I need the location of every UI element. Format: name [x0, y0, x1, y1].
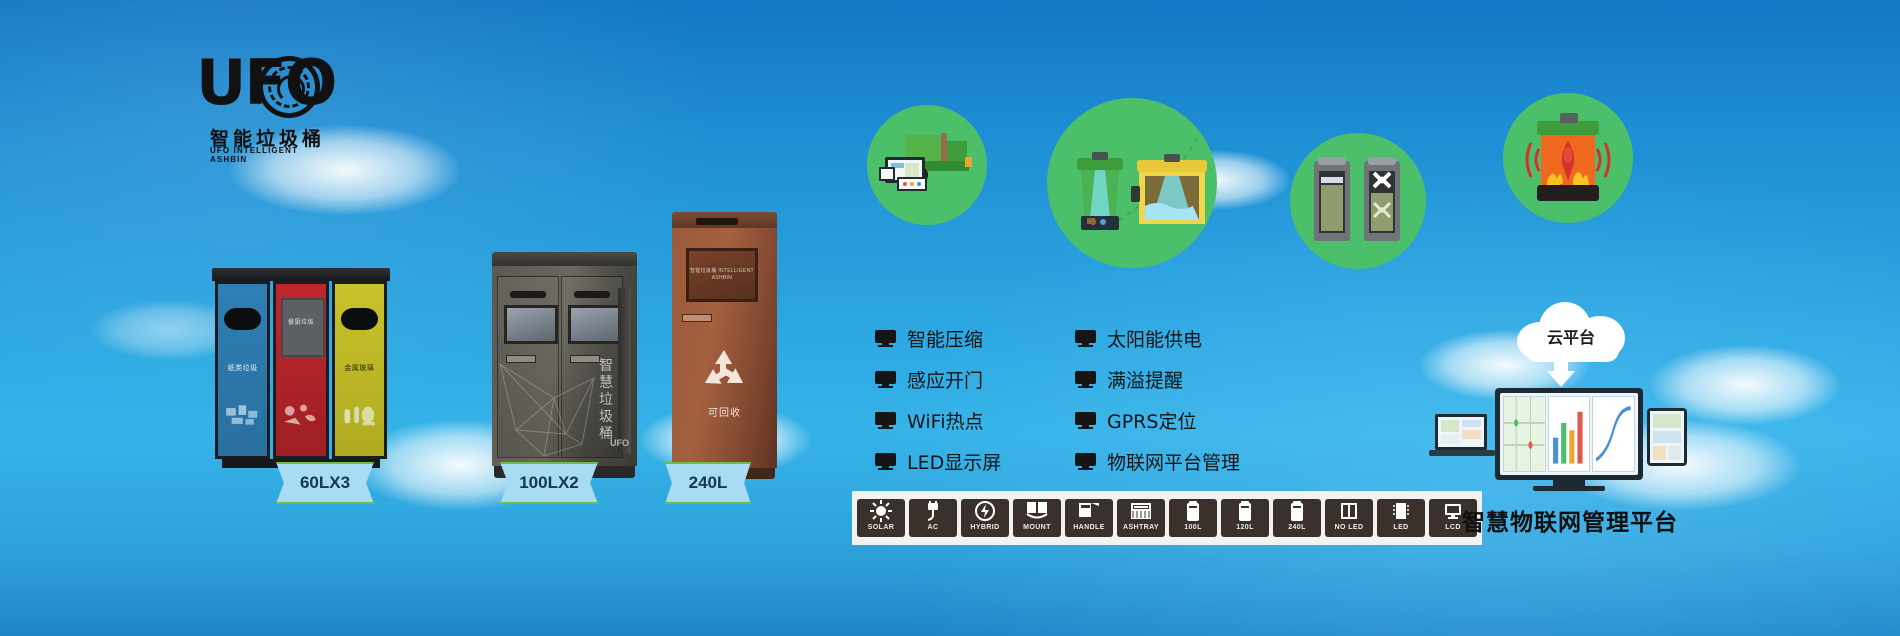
waste-slot-icon	[224, 308, 261, 330]
bin-label: 纸类垃圾	[218, 363, 267, 373]
three-bin-top-cap	[212, 268, 390, 281]
polygon-decor-graphic	[496, 356, 606, 461]
spec-ac: AC	[909, 499, 957, 537]
brand-logo: UFO 智能垃圾桶 UFO INTELLIGENT ASHBIN	[196, 52, 326, 157]
handle-icon	[1065, 499, 1113, 523]
spec-hybrid: HYBRID	[961, 499, 1009, 537]
monitor-base	[1533, 486, 1605, 491]
spec-caption: SOLAR	[868, 523, 895, 532]
monitor-bullet-icon	[1075, 371, 1096, 388]
feature-label: 太阳能供电	[1107, 325, 1202, 352]
led-strip-icon	[574, 291, 610, 298]
bin-100l-icon	[1169, 499, 1217, 523]
product-single-bin-unit: 智能垃圾桶 INTELLIGENT ASHBIN 可回收	[672, 212, 777, 480]
feature-label: 满溢提醒	[1107, 366, 1183, 393]
led-strip-icon	[696, 218, 738, 225]
monitor-bullet-icon	[875, 453, 896, 470]
spec-caption: ASHTRAY	[1123, 523, 1159, 532]
waste-slot-icon	[341, 308, 378, 330]
feature-led-display: LED显示屏	[875, 448, 1075, 475]
desktop-monitor	[1495, 388, 1643, 480]
monitor-bullet-icon	[875, 330, 896, 347]
two-bin-body: 智慧垃圾桶 UFO	[492, 266, 637, 466]
spec-caption: 100L	[1184, 523, 1202, 532]
spec-100l: 100L	[1169, 499, 1217, 537]
bin-120l-icon	[1221, 499, 1269, 523]
monitor-bullet-icon	[1075, 453, 1096, 470]
tablet-device	[1647, 408, 1687, 466]
spec-120l: 120L	[1221, 499, 1269, 537]
spec-caption: HANDLE	[1073, 523, 1105, 532]
bin-left	[1314, 157, 1350, 241]
feature-sensor-door: 感应开门	[875, 366, 1075, 393]
spec-caption: 120L	[1236, 523, 1254, 532]
product-three-bin-unit: 纸类垃圾 餐厨垃圾	[212, 268, 390, 468]
spec-ashtray: ASHTRAY	[1117, 499, 1165, 537]
tablet-screen	[1650, 411, 1684, 463]
bin-label: 金属玻璃	[335, 363, 384, 373]
monitor-bullet-icon	[875, 412, 896, 429]
power-plug-icon	[909, 499, 957, 523]
bin-display-screen: 智能垃圾桶 INTELLIGENT ASHBIN	[686, 248, 758, 302]
spec-solar: SOLAR	[857, 499, 905, 537]
feature-label: 物联网平台管理	[1107, 448, 1240, 475]
spec-icon-strip: SOLAR AC HYBRID MOUNT	[852, 491, 1482, 545]
spec-caption: HYBRID	[970, 523, 999, 532]
monitor-bullet-icon	[1075, 412, 1096, 429]
bin-fire-alarm-icon	[1503, 93, 1633, 223]
dashboard-map-panel	[1503, 396, 1546, 472]
led-strip-icon	[510, 291, 546, 298]
dashboard-stats-panel	[1548, 396, 1591, 472]
capacity-tag-60lx3: 60LX3	[276, 462, 374, 504]
spec-caption: NO LED	[1335, 523, 1364, 532]
feature-label: 感应开门	[907, 366, 983, 393]
green-bin	[1077, 152, 1123, 230]
feature-gprs-location: GPRS定位	[1075, 407, 1295, 434]
paper-waste-illustration	[222, 384, 263, 446]
bin-label: 餐厨垃圾	[276, 317, 325, 326]
metal-glass-illustration	[339, 384, 380, 446]
capacity-tag-100lx2: 100LX2	[500, 462, 598, 504]
fleet-management-circle	[867, 105, 987, 225]
cloud-shape: 云平台	[1517, 300, 1625, 360]
metal-glass-bin: 金属玻璃	[332, 281, 387, 459]
feature-label: LED显示屏	[907, 448, 1001, 475]
cloud-platform-illustration: 云平台	[1425, 300, 1725, 490]
kitchen-waste-bin: 餐厨垃圾	[273, 281, 328, 459]
monitor-screen	[1500, 393, 1638, 475]
banner-stage: UFO 智能垃圾桶 UFO INTELLIGENT ASHBIN 纸类垃圾	[0, 0, 1900, 636]
bin-right	[1364, 157, 1400, 241]
spec-handle: HANDLE	[1065, 499, 1113, 537]
sun-icon	[857, 499, 905, 523]
feature-solar-power: 太阳能供电	[1075, 325, 1295, 352]
recycle-icon	[698, 346, 750, 398]
product-two-bin-unit: 智慧垃圾桶 UFO	[492, 252, 637, 480]
paper-waste-bin: 纸类垃圾	[215, 281, 270, 459]
two-bins-status-icon	[1290, 133, 1426, 269]
feature-label: WiFi热点	[907, 407, 983, 434]
single-bin-top-cap	[672, 212, 777, 228]
yellow-bin	[1131, 154, 1207, 224]
feature-overflow-alert: 满溢提醒	[1075, 366, 1295, 393]
spec-240l: 240L	[1273, 499, 1321, 537]
feature-iot-platform: 物联网平台管理	[1075, 448, 1295, 475]
two-bin-top-cap	[492, 252, 637, 266]
logo-english-name: UFO INTELLIGENT ASHBIN	[210, 146, 326, 164]
monitor-bullet-icon	[1075, 330, 1096, 347]
cloud-platform-label: 云平台	[1517, 324, 1625, 348]
spec-caption: MOUNT	[1023, 523, 1051, 532]
garbage-truck-icon	[867, 105, 987, 225]
dashboard-trend-panel	[1592, 396, 1635, 472]
monitor-bullet-icon	[875, 371, 896, 388]
feature-wifi-hotspot: WiFi热点	[875, 407, 1075, 434]
feature-smart-compaction: 智能压缩	[875, 325, 1075, 352]
spec-caption: 240L	[1288, 523, 1306, 532]
spec-caption: AC	[928, 523, 939, 532]
kitchen-waste-illustration	[280, 384, 321, 446]
feature-list: 智能压缩 太阳能供电 感应开门 满溢提醒 WiFi热点 GPRS定位 LED显示…	[875, 325, 1295, 475]
logo-ring-icon	[258, 56, 320, 118]
two-bin-side-panel	[618, 288, 631, 453]
ashtray-icon	[1117, 499, 1165, 523]
fire-alarm-circle	[1503, 93, 1633, 223]
bin-display-screen	[568, 305, 622, 344]
bin-display-panel	[281, 298, 324, 357]
spec-caption: LED	[1393, 523, 1408, 532]
wall-mount-icon	[1013, 499, 1061, 523]
capacity-tag-240l: 240L	[665, 462, 751, 504]
bin-screen-label: 智能垃圾桶 INTELLIGENT ASHBIN	[689, 268, 755, 282]
spec-no-led: NO LED	[1325, 499, 1373, 537]
single-bin-body: 智能垃圾桶 INTELLIGENT ASHBIN 可回收	[672, 228, 777, 468]
feature-label: 智能压缩	[907, 325, 983, 352]
sensor-detection-circle	[1047, 98, 1217, 268]
lightning-bolt-icon	[961, 499, 1009, 523]
platform-caption: 智慧物联网管理平台	[1415, 503, 1725, 537]
laptop-device	[1429, 412, 1495, 462]
bin-240l-icon	[1273, 499, 1321, 523]
bin-handle-icon	[682, 314, 712, 322]
two-bin-vertical-text: 智慧垃圾桶	[598, 358, 615, 443]
spec-mount: MOUNT	[1013, 499, 1061, 537]
recycle-label: 可回收	[672, 404, 777, 419]
feature-label: GPRS定位	[1107, 407, 1196, 434]
bin-display-screen	[504, 305, 558, 344]
fill-level-circle	[1290, 133, 1426, 269]
bin-fill-sensor-icon	[1047, 98, 1217, 268]
no-led-icon	[1325, 499, 1373, 523]
two-bin-brand-mark: UFO	[610, 438, 629, 448]
